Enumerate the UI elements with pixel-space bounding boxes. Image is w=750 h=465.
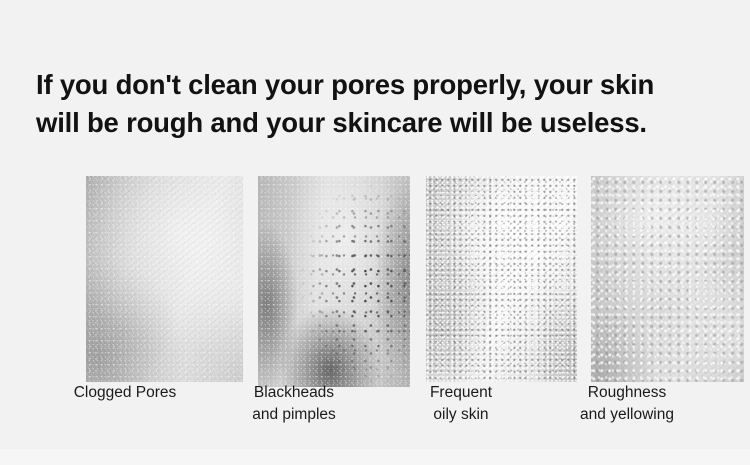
caption-roughness-and-yellowing: Roughness and yellowing xyxy=(542,382,712,426)
caption-blackheads-and-pimples: Blackheads and pimples xyxy=(212,382,376,426)
skin-condition-panel-oily-skin xyxy=(426,176,577,382)
skin-crosshatch-overlay xyxy=(591,176,744,382)
page-title: If you don't clean your pores properly, … xyxy=(36,66,726,142)
rough-skin-image xyxy=(591,176,744,382)
skin-condition-panel-roughness xyxy=(591,176,744,382)
skin-grain-texture-overlay xyxy=(86,176,243,382)
skin-condition-panel-blackheads xyxy=(258,176,410,387)
caption-clogged-pores: Clogged Pores xyxy=(40,382,210,404)
skin-condition-panel-clogged-pores xyxy=(86,176,243,382)
skin-condition-caption-row: Clogged Pores Blackheads and pimples Fre… xyxy=(46,382,704,442)
skin-grain-texture-overlay xyxy=(258,176,410,387)
blackheads-nose-image xyxy=(258,176,410,387)
bumpy-texture-overlay xyxy=(591,176,744,382)
footer-strip xyxy=(0,449,750,465)
skin-crosshatch-overlay xyxy=(86,176,243,382)
oily-sparkle-overlay xyxy=(426,176,577,382)
skin-condition-panel-row xyxy=(46,160,704,372)
blackhead-speckles-overlay xyxy=(258,176,410,387)
clogged-pores-image xyxy=(86,176,243,382)
oily-skin-image xyxy=(426,176,577,382)
skincare-infographic-banner: If you don't clean your pores properly, … xyxy=(0,0,750,465)
caption-frequent-oily-skin: Frequent oily skin xyxy=(378,382,544,426)
skin-crosshatch-overlay xyxy=(426,176,577,382)
